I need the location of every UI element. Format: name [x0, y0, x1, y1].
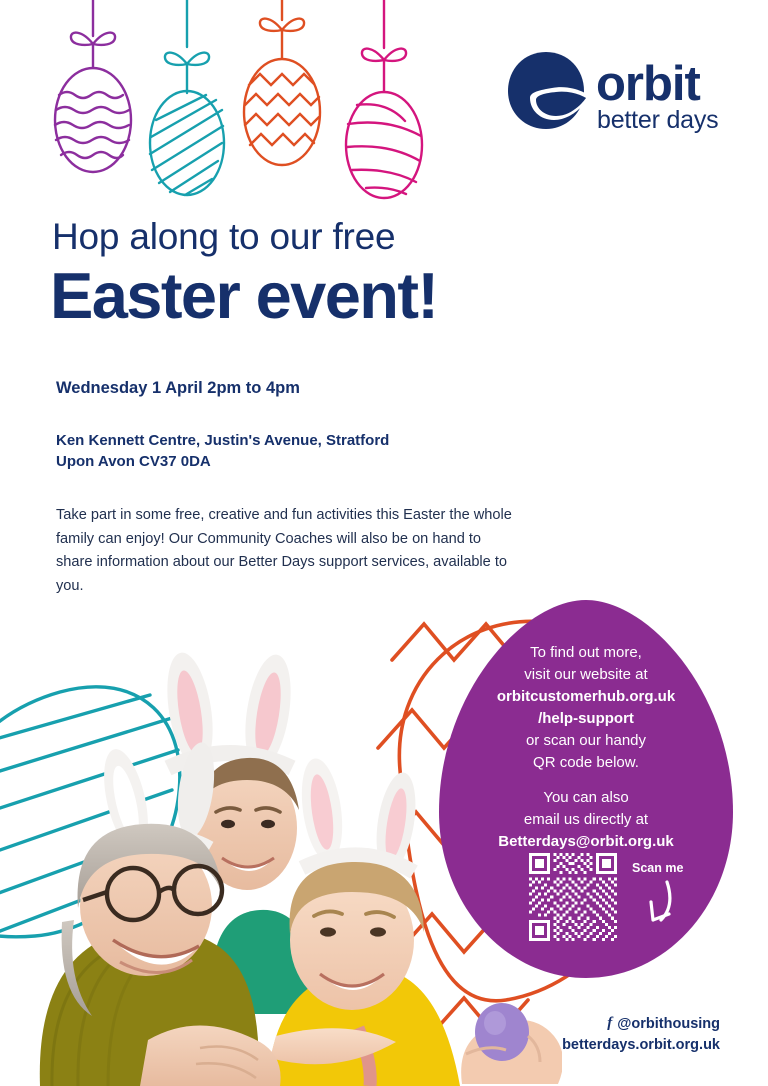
- footer-website-label: betterdays.orbit.org.uk: [562, 1035, 720, 1056]
- callout-line-3: or scan our handy: [437, 730, 735, 752]
- callout-email[interactable]: Betterdays@orbit.org.uk: [437, 831, 735, 853]
- egg-striped-teal-icon: [150, 0, 224, 195]
- scan-arrow-icon: [615, 876, 677, 934]
- poster-canvas: orbit better days Hop along to our free …: [0, 0, 768, 1086]
- callout-copy: To find out more, visit our website at o…: [437, 642, 735, 853]
- footer-contacts: f @orbithousing betterdays.orbit.org.uk: [562, 1013, 720, 1056]
- page-title: Easter event!: [50, 263, 437, 328]
- venue-line-2: Upon Avon CV37 0DA: [56, 451, 389, 472]
- venue-line-1: Ken Kennett Centre, Justin's Avenue, Str…: [56, 430, 389, 451]
- egg-wavy-purple-icon: [55, 0, 131, 172]
- bunny-ears-middle: [160, 649, 298, 772]
- callout-line-5: You can also: [437, 787, 735, 809]
- event-datetime: Wednesday 1 April 2pm to 4pm: [56, 379, 300, 398]
- kicker-text: Hop along to our free: [52, 216, 395, 258]
- callout-line-2: visit our website at: [437, 664, 735, 686]
- callout-website-path[interactable]: /help-support: [437, 708, 735, 730]
- facebook-row[interactable]: f @orbithousing: [562, 1013, 720, 1035]
- contact-callout-panel: To find out more, visit our website at o…: [437, 598, 735, 980]
- callout-line-4: QR code below.: [437, 752, 735, 774]
- facebook-handle: @orbithousing: [617, 1014, 720, 1035]
- facebook-icon: f: [607, 1013, 612, 1035]
- egg-zigzag-orange-icon: [244, 0, 320, 165]
- scan-me-label: Scan me: [632, 861, 683, 875]
- logo-tagline: better days: [597, 106, 718, 134]
- callout-line-1: To find out more,: [437, 642, 735, 664]
- hand-holding-easter-egg: [452, 996, 562, 1086]
- egg-banded-magenta-icon: [346, 0, 422, 198]
- qr-code[interactable]: [529, 853, 617, 941]
- orbit-logo: orbit better days: [500, 48, 730, 138]
- footer-website[interactable]: betterdays.orbit.org.uk: [562, 1035, 720, 1056]
- bunny-ears-front: [296, 756, 422, 874]
- logo-wordmark: orbit: [596, 57, 701, 111]
- callout-line-6: email us directly at: [437, 809, 735, 831]
- hanging-eggs-decoration: [0, 0, 470, 205]
- photo-hands: [140, 1025, 281, 1086]
- orbit-mark-icon: [508, 52, 590, 129]
- family-photo: [0, 640, 470, 1086]
- event-description: Take part in some free, creative and fun…: [56, 504, 516, 599]
- callout-website[interactable]: orbitcustomerhub.org.uk: [437, 686, 735, 708]
- event-venue: Ken Kennett Centre, Justin's Avenue, Str…: [56, 430, 389, 473]
